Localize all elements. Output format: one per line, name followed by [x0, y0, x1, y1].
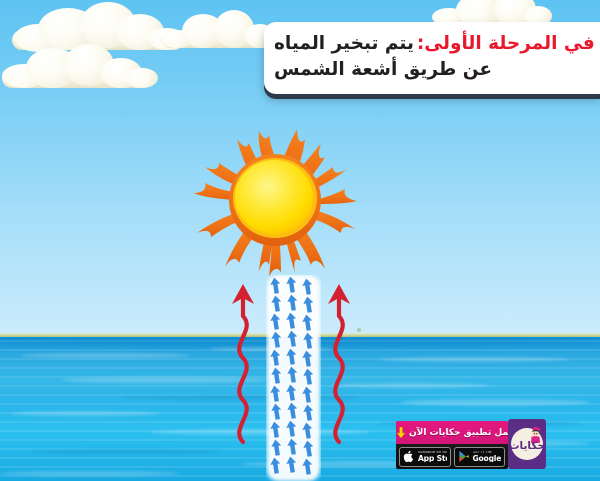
app-store-label: App Store [418, 455, 447, 463]
cloud-mid-left [0, 42, 160, 90]
distant-speck [357, 328, 361, 332]
google-play-badge[interactable]: GET IT ON Google Play [454, 447, 506, 467]
promo-banner-text: حمل تطبيق حكايات الآن [409, 428, 508, 438]
sun-graphic [185, 105, 365, 285]
caption-stage-label: في المرحلة الأولى: [417, 31, 595, 57]
caption-box: في المرحلة الأولى: يتم تبخير المياه عن ط… [264, 22, 600, 94]
app-promo-strip: حمل تطبيق حكايات الآن Available on the A… [396, 419, 546, 471]
ray-arrow-right [322, 282, 356, 444]
ray-arrow-left [226, 282, 260, 444]
caption-stage-text: يتم تبخير المياه [274, 31, 414, 57]
caption-line-2: عن طريق أشعة الشمس [274, 57, 492, 83]
hikayat-logo-text: حكايات [509, 440, 545, 452]
caption-line-1: في المرحلة الأولى: يتم تبخير المياه [274, 31, 595, 57]
infographic-scene: في المرحلة الأولى: يتم تبخير المياه عن ط… [0, 0, 600, 481]
hikayat-logo[interactable]: حكايات [508, 419, 546, 469]
app-store-badge[interactable]: Available on the App Store [399, 447, 451, 467]
cloud-top-left [8, 2, 188, 52]
apple-icon [403, 450, 415, 463]
google-play-label: Google Play [473, 455, 502, 463]
promo-banner-top: حمل تطبيق حكايات الآن [396, 421, 508, 444]
download-arrow-icon [396, 427, 406, 439]
store-badges: Available on the App Store GET IT ON [396, 444, 508, 469]
cloud-top-right [160, 8, 278, 50]
water-vapour-column [266, 275, 321, 481]
promo-banner[interactable]: حمل تطبيق حكايات الآن Available on the A… [396, 421, 508, 469]
google-play-icon [458, 450, 470, 463]
